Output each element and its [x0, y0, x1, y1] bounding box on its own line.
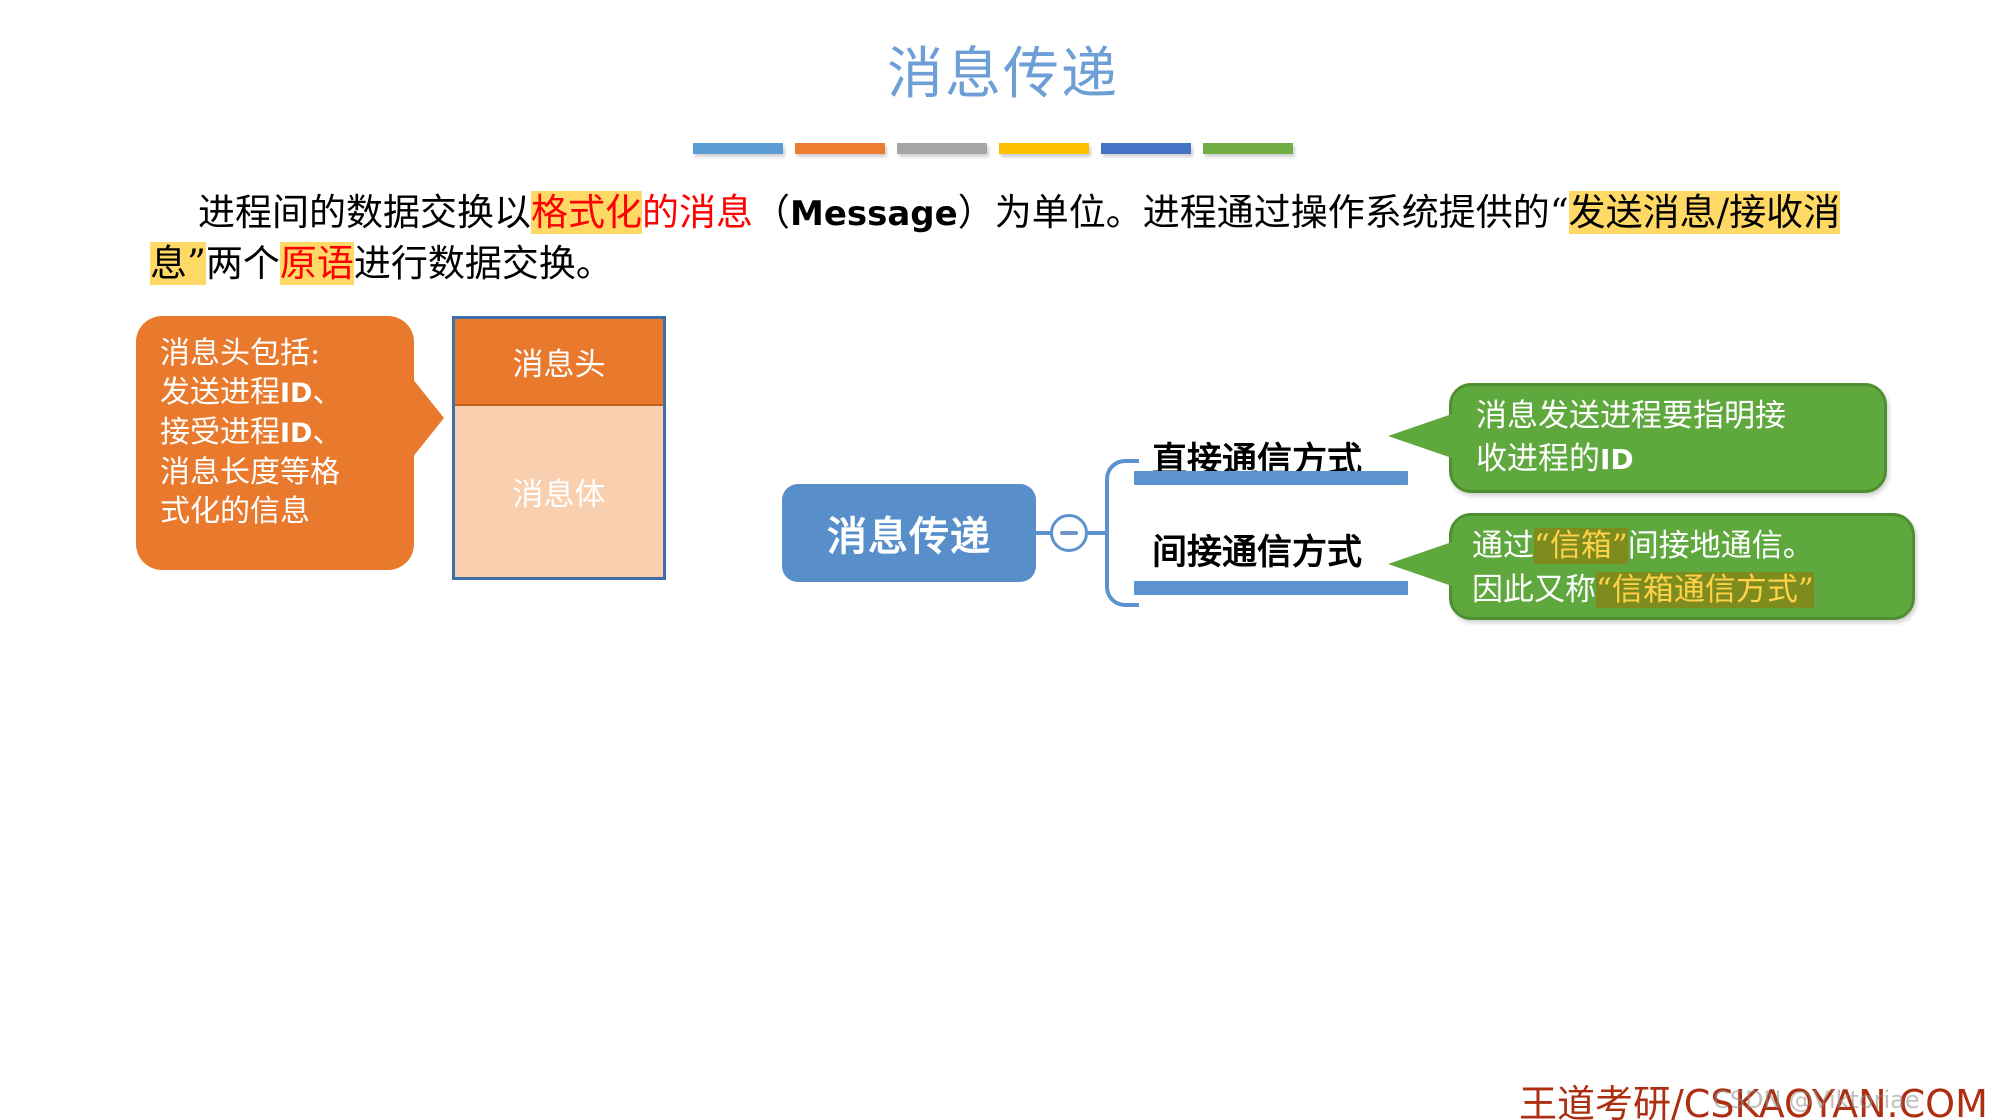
mindmap-branch-underline-indirect	[1134, 581, 1408, 595]
accent-bar-blue	[693, 143, 783, 154]
mindmap-branch-label-indirect[interactable]: 间接通信方式	[1152, 524, 1362, 575]
accent-bar-yellow	[999, 143, 1089, 154]
green-callout-tail-icon	[1388, 414, 1452, 458]
callout-line-0: 消息头包括:	[160, 334, 392, 373]
accent-bar-orange	[795, 143, 885, 154]
green-callout-direct-line-0: 消息发送进程要指明接	[1476, 395, 1884, 438]
accent-bar-indigo	[1101, 143, 1191, 154]
mindmap-branch-underline-direct	[1134, 471, 1408, 485]
mindmap-root-node[interactable]: 消息传递	[782, 484, 1036, 582]
csdn-watermark: CSDN @Viktoriae	[1713, 1086, 1920, 1114]
callout-line-3: 消息长度等格	[160, 453, 392, 492]
green-callout-indirect-line-0: 通过“信箱”间接地通信。	[1472, 524, 1912, 568]
message-header-callout: 消息头包括: 发送进程ID、 接受进程ID、 消息长度等格 式化的信息	[136, 316, 414, 570]
green-callout-indirect-line-1: 因此又称“信箱通信方式”	[1472, 568, 1912, 612]
green-callout-indirect: 通过“信箱”间接地通信。 因此又称“信箱通信方式”	[1449, 513, 1915, 620]
callout-line-2: 接受进程ID、	[160, 413, 392, 453]
green-callout-tail-icon	[1388, 542, 1452, 586]
callout-line-1: 发送进程ID、	[160, 373, 392, 413]
message-structure-box: 消息头 消息体	[452, 316, 666, 580]
message-head-cell: 消息头	[455, 319, 663, 406]
green-callout-direct-line-1: 收进程的ID	[1476, 438, 1884, 481]
slide-canvas: 消息传递 进程间的数据交换以格式化的消息（Message）为单位。进程通过操作系…	[0, 0, 2006, 1120]
accent-bar-gray	[897, 143, 987, 154]
message-body-cell: 消息体	[455, 406, 663, 577]
body-paragraph: 进程间的数据交换以格式化的消息（Message）为单位。进程通过操作系统提供的“…	[150, 188, 1876, 289]
green-callout-direct: 消息发送进程要指明接 收进程的ID	[1449, 383, 1887, 493]
title-accent-bars	[693, 143, 1293, 154]
callout-tail-icon	[412, 378, 444, 458]
page-title: 消息传递	[0, 42, 2006, 108]
callout-line-4: 式化的信息	[160, 492, 392, 531]
minus-glyph	[1060, 531, 1078, 535]
accent-bar-green	[1203, 143, 1293, 154]
minus-circle-icon[interactable]	[1050, 514, 1088, 552]
